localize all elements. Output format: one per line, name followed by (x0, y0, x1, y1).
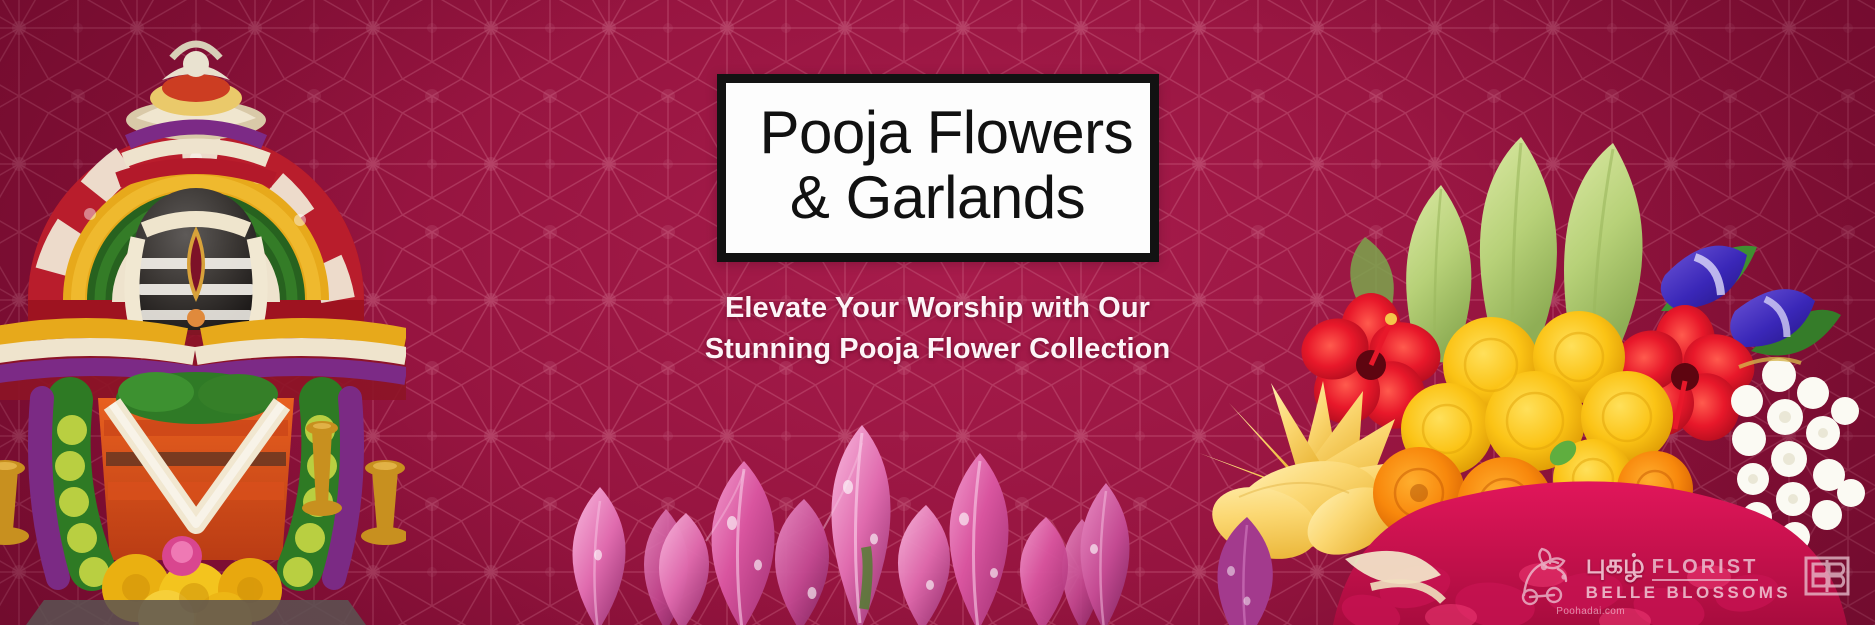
pooja-flowers-banner: Pooja Flowers & Garlands Elevate Your Wo… (0, 0, 1875, 625)
headline-box: Pooja Flowers & Garlands (717, 74, 1159, 262)
subtitle-line-2: Stunning Pooja Flower Collection (705, 329, 1171, 370)
banner-subtitle: Elevate Your Worship with Our Stunning P… (705, 288, 1171, 370)
subtitle-line-1: Elevate Your Worship with Our (705, 288, 1171, 329)
banner-copy: Pooja Flowers & Garlands Elevate Your Wo… (0, 74, 1875, 370)
pink-lotus-buds-image (470, 341, 1170, 625)
headline-line-1: Pooja Flowers (760, 101, 1116, 166)
headline-line-2: & Garlands (760, 166, 1116, 231)
